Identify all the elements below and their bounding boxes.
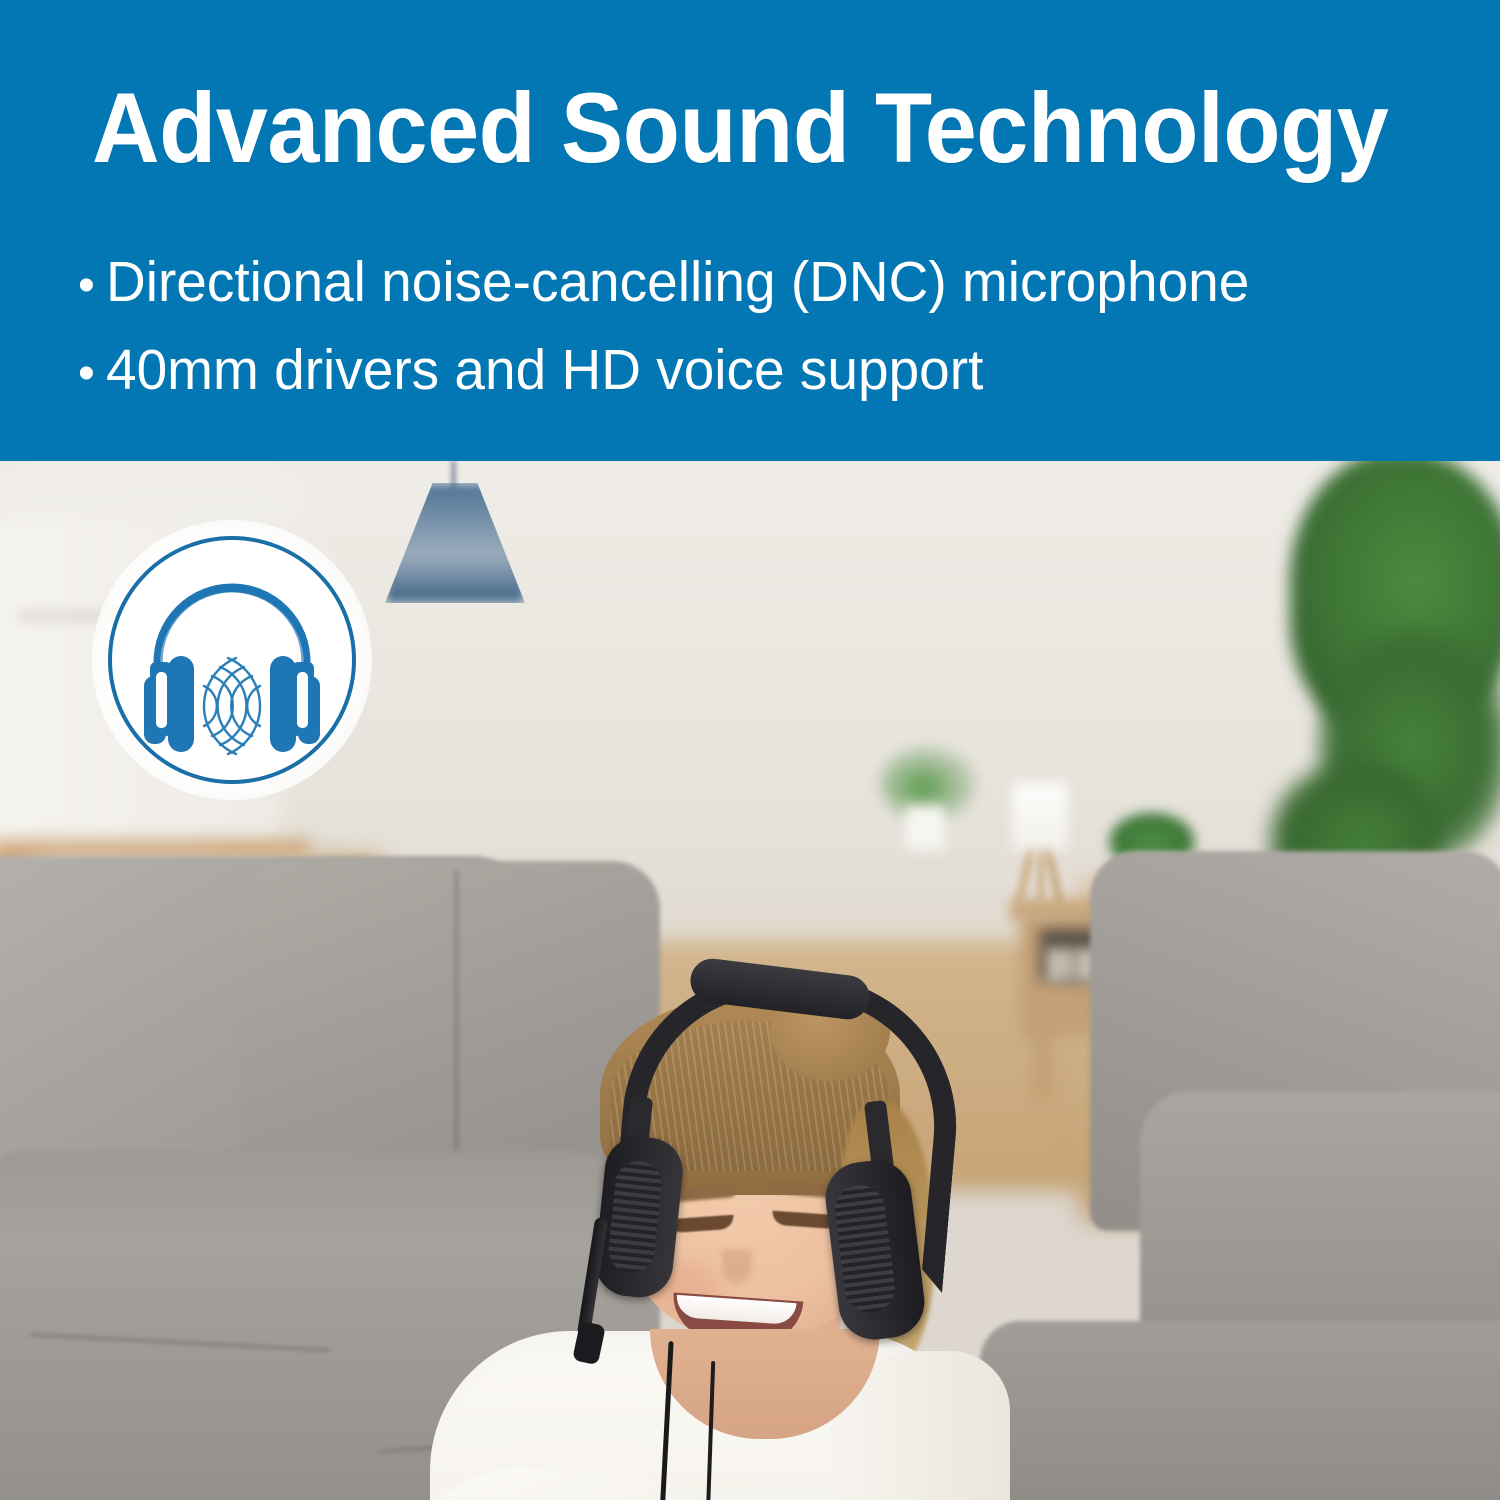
list-item: • Directional noise-cancelling (DNC) mic… bbox=[78, 240, 1458, 328]
bullet-icon: • bbox=[78, 332, 106, 416]
headphones-noise-cancelling-icon bbox=[106, 534, 358, 786]
table-lamp-shade bbox=[1012, 783, 1068, 851]
bullet-icon: • bbox=[78, 244, 106, 328]
console-leg bbox=[1035, 1021, 1049, 1101]
headphones-badge bbox=[106, 534, 358, 786]
feature-banner: Advanced Sound Technology • Directional … bbox=[0, 0, 1500, 461]
page-title: Advanced Sound Technology bbox=[92, 78, 1349, 177]
product-feature-card: Advanced Sound Technology • Directional … bbox=[0, 0, 1500, 1500]
list-item: • 40mm drivers and HD voice support bbox=[78, 328, 1458, 416]
feature-list: • Directional noise-cancelling (DNC) mic… bbox=[78, 240, 1458, 416]
feature-text: 40mm drivers and HD voice support bbox=[106, 328, 983, 412]
table-lamp-leg bbox=[1038, 843, 1044, 903]
sofa-seat bbox=[980, 1321, 1500, 1500]
small-plant-pot bbox=[905, 806, 945, 850]
feature-text: Directional noise-cancelling (DNC) micro… bbox=[106, 240, 1249, 324]
